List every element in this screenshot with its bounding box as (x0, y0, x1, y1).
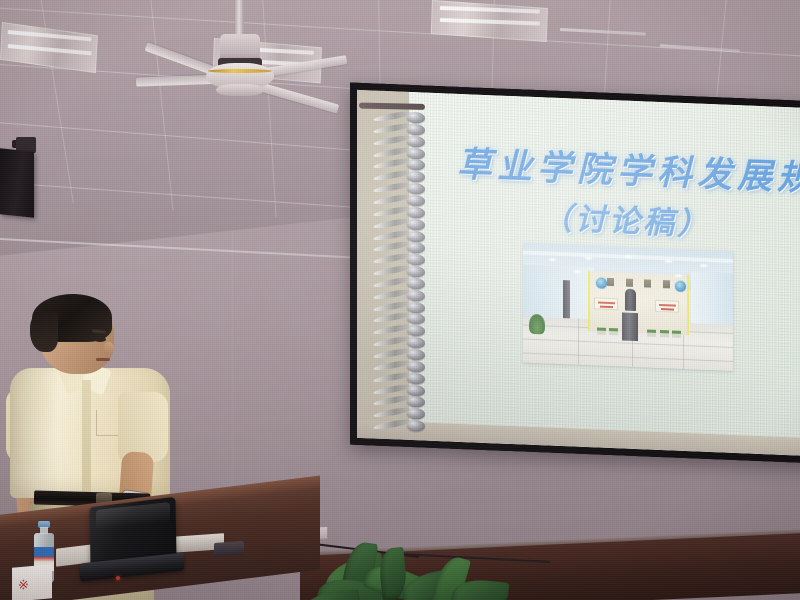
binding-ring-bead (407, 124, 425, 136)
wall-speaker (0, 148, 34, 218)
presenter-hair-side (30, 312, 58, 352)
desk-object (214, 541, 244, 557)
lobby-planter (597, 327, 606, 334)
binding-ring-bead (407, 195, 425, 207)
binding-ring-bead (407, 396, 425, 408)
binding-ring-bead (407, 290, 425, 302)
screen-surface: 草业学院学科发展规划 （讨论稿） (357, 90, 800, 456)
lobby-placard-right (655, 299, 679, 312)
potted-plant (318, 536, 508, 600)
lobby-planter (660, 330, 669, 337)
spiral-binding (373, 100, 435, 418)
projection-screen: 草业学院学科发展规划 （讨论稿） (350, 83, 800, 464)
presenter-shirt-placket (82, 380, 91, 492)
lobby-corner-plant (529, 314, 545, 335)
binding-ring-bead (407, 384, 425, 396)
slide-embedded-photo (523, 243, 733, 371)
binding-ring-bead (407, 313, 425, 325)
binding-ring-bead (407, 112, 425, 124)
binding-ring-bead (407, 278, 425, 290)
lobby-statue-pedestal (622, 312, 638, 341)
lobby-ceiling-spot (584, 256, 593, 260)
binding-ring-bead (407, 254, 425, 266)
fan-downrod (235, 0, 244, 38)
presenter-mouth (96, 358, 110, 361)
binding-ring-bead (407, 325, 425, 337)
lobby-planter (672, 330, 681, 337)
binding-ring-bead (407, 171, 425, 183)
binding-top-bar (359, 102, 425, 110)
laptop-power-led (116, 576, 120, 580)
binding-ring-bead (407, 266, 425, 278)
laptop (74, 502, 186, 586)
fan-gold-trim (208, 69, 272, 73)
binding-ring-bead (407, 136, 425, 148)
binding-ring-bead (407, 219, 425, 231)
fan-bottom-cap (216, 84, 264, 96)
presenter-eye (94, 337, 106, 342)
binding-ring-bead (407, 337, 425, 349)
binding-ring-bead (407, 147, 425, 159)
binding-ring-bead (407, 183, 425, 195)
binding-ring-bead (407, 159, 425, 171)
ceiling-fan (150, 0, 330, 110)
binding-ring-bead (407, 373, 425, 385)
lobby-planter (609, 328, 618, 335)
lobby-statue-bust (625, 288, 636, 310)
lobby-planter (647, 329, 656, 336)
binding-ring-bead (407, 361, 425, 373)
binding-ring-bead (407, 242, 425, 254)
binding-ring-bead (407, 408, 425, 420)
binding-ring-bead (407, 207, 425, 219)
desk-card-mark: ※ (18, 577, 36, 593)
presentation-room-photo: 草业学院学科发展规划 （讨论稿） (0, 0, 800, 600)
presentation-slide: 草业学院学科发展规划 （讨论稿） (357, 90, 800, 456)
binding-ring-bead (407, 349, 425, 361)
presenter-nose (104, 342, 114, 354)
presenter-shirt-shadow (10, 368, 58, 498)
binding-ring-bead (407, 420, 425, 432)
lobby-ceiling-spot (664, 259, 673, 263)
binding-ring-bead (407, 230, 425, 242)
lobby-placard-left (594, 297, 618, 310)
